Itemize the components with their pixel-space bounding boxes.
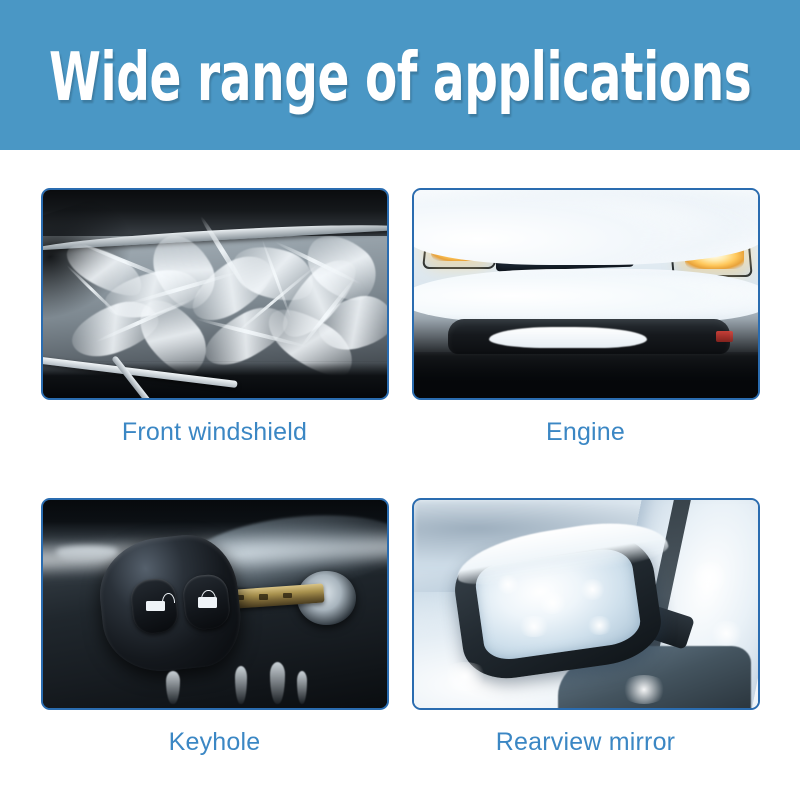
key-in-keyhole-photo (43, 500, 387, 708)
application-cell-rearview-mirror: Rearview mirror (411, 498, 760, 800)
card-caption-keyhole: Keyhole (169, 728, 261, 757)
application-card-rearview-mirror[interactable] (412, 498, 760, 710)
application-cell-engine: Engine (411, 188, 760, 490)
card-caption-engine: Engine (546, 418, 625, 447)
card-caption-rearview-mirror: Rearview mirror (496, 728, 675, 757)
applications-grid: Front windshield (0, 150, 800, 800)
frosted-windshield-photo (43, 190, 387, 398)
card-caption-front-windshield: Front windshield (122, 418, 307, 447)
header-banner: Wide range of applications (0, 0, 800, 150)
application-cell-keyhole: Keyhole (40, 498, 389, 800)
application-card-keyhole[interactable] (41, 498, 389, 710)
application-cell-front-windshield: Front windshield (40, 188, 389, 490)
frosty-rearview-mirror-photo (414, 500, 758, 708)
application-card-engine[interactable] (412, 188, 760, 400)
snow-covered-engine-photo (414, 190, 758, 398)
page-title: Wide range of applications (49, 44, 751, 111)
application-card-front-windshield[interactable] (41, 188, 389, 400)
